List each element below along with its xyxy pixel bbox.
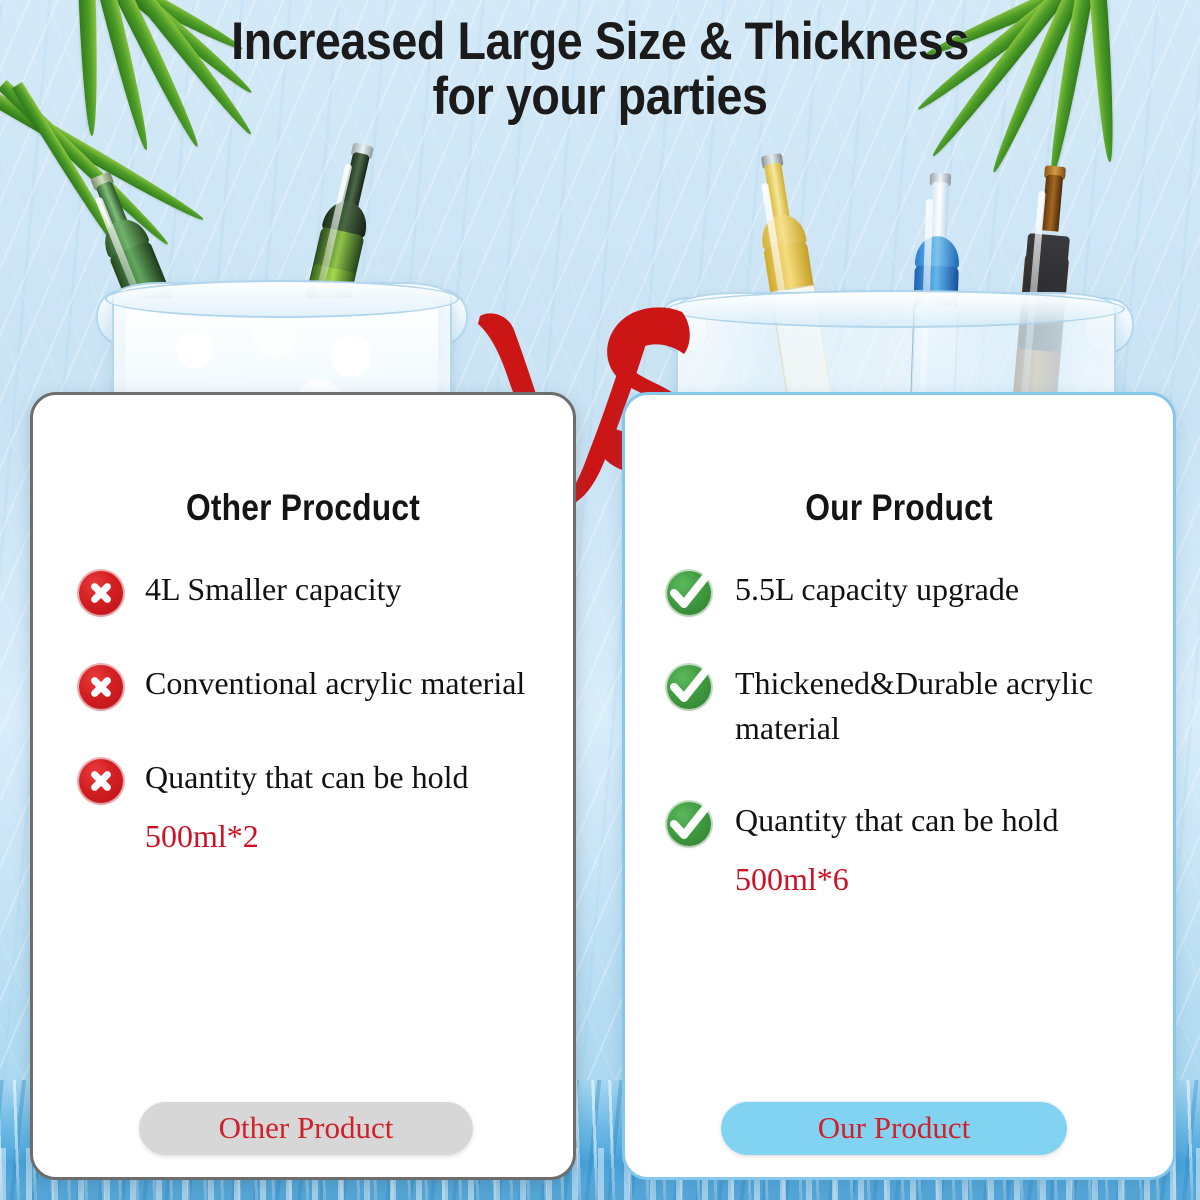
- our-product-feature-list: 5.5L capacity upgrade Thickened&Durable …: [625, 567, 1173, 949]
- cross-circle-icon: [79, 571, 123, 615]
- feature-capacity-value: 500ml*2: [145, 814, 468, 859]
- page-title: Increased Large Size & Thickness for you…: [72, 14, 1128, 124]
- title-line-2: for your parties: [72, 69, 1128, 124]
- list-item: 5.5L capacity upgrade: [625, 567, 1173, 615]
- check-circle-icon: [667, 571, 711, 615]
- feature-main-text: Quantity that can be hold: [145, 759, 468, 795]
- feature-text: Conventional acrylic material: [145, 661, 525, 706]
- infographic-stage: Increased Large Size & Thickness for you…: [0, 0, 1200, 1200]
- feature-text: 4L Smaller capacity: [145, 567, 401, 612]
- list-item: Quantity that can be hold 500ml*6: [625, 798, 1173, 903]
- other-product-card: Other Procduct 4L Smaller capacity Conve…: [30, 392, 576, 1180]
- list-item: 4L Smaller capacity: [33, 567, 573, 615]
- feature-text: Thickened&Durable acrylic material: [735, 661, 1161, 752]
- other-product-pill-button[interactable]: Other Product: [139, 1101, 473, 1155]
- feature-text: Quantity that can be hold 500ml*6: [735, 798, 1058, 903]
- feature-text: Quantity that can be hold 500ml*2: [145, 755, 468, 860]
- check-circle-icon: [667, 665, 711, 709]
- our-product-card: Our Product 5.5L capacity upgrade Thicke…: [622, 392, 1176, 1180]
- feature-main-text: Quantity that can be hold: [735, 802, 1058, 838]
- feature-capacity-value: 500ml*6: [735, 857, 1058, 902]
- our-product-heading: Our Product: [663, 487, 1134, 529]
- other-product-heading: Other Procduct: [71, 487, 535, 529]
- list-item: Conventional acrylic material: [33, 661, 573, 709]
- other-product-feature-list: 4L Smaller capacity Conventional acrylic…: [33, 567, 573, 906]
- feature-text: 5.5L capacity upgrade: [735, 567, 1019, 612]
- title-line-1: Increased Large Size & Thickness: [231, 12, 969, 71]
- list-item: Thickened&Durable acrylic material: [625, 661, 1173, 752]
- list-item: Quantity that can be hold 500ml*2: [33, 755, 573, 860]
- our-product-pill-button[interactable]: Our Product: [721, 1101, 1067, 1155]
- check-circle-icon: [667, 802, 711, 846]
- cross-circle-icon: [79, 665, 123, 709]
- cross-circle-icon: [79, 759, 123, 803]
